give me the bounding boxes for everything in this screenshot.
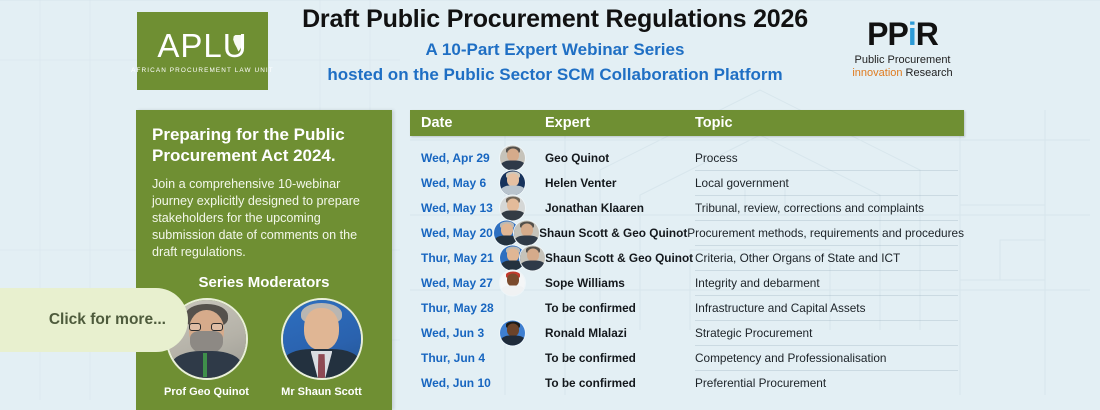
cell-expert: Helen Venter (545, 176, 695, 190)
webinar-schedule-table: Date Expert Topic Wed, Apr 29Geo QuinotP… (410, 110, 964, 395)
table-row[interactable]: Wed, May 20Shaun Scott & Geo QuinotProcu… (410, 220, 964, 245)
cell-date: Wed, Jun 10 (410, 376, 545, 390)
avatar (499, 269, 526, 296)
ppir-mark-pp: PP (867, 16, 908, 52)
ppir-tagline-innovation: innovation (852, 67, 902, 79)
expert-name: To be confirmed (545, 351, 636, 365)
cell-expert: To be confirmed (545, 376, 695, 390)
expert-avatars (499, 144, 526, 171)
page-subtitle-2: hosted on the Public Sector SCM Collabor… (275, 65, 835, 85)
expert-avatars (499, 269, 526, 296)
table-row[interactable]: Wed, May 6Helen VenterLocal government (410, 170, 964, 195)
cell-topic: Tribunal, review, corrections and compla… (695, 201, 964, 215)
expert-name: To be confirmed (545, 376, 636, 390)
column-header-date: Date (410, 115, 545, 131)
cell-expert: Shaun Scott & Geo Quinot (539, 226, 687, 240)
column-header-topic: Topic (695, 115, 964, 131)
cell-expert: Shaun Scott & Geo Quinot (545, 251, 695, 265)
table-row[interactable]: Thur, May 21Shaun Scott & Geo QuinotCrit… (410, 245, 964, 270)
table-row[interactable]: Wed, Apr 29Geo QuinotProcess (410, 145, 964, 170)
avatar (499, 319, 526, 346)
cell-topic: Criteria, Other Organs of State and ICT (695, 251, 964, 265)
aplu-wordmark-text: APLU (157, 29, 247, 62)
expert-name: Sope Williams (545, 276, 625, 290)
cell-topic: Infrastructure and Capital Assets (695, 301, 964, 315)
avatar (281, 298, 363, 380)
moderator-name: Mr Shaun Scott (274, 386, 369, 398)
title-block: Draft Public Procurement Regulations 202… (275, 4, 835, 85)
page-subtitle-1: A 10-Part Expert Webinar Series (275, 40, 835, 60)
cell-topic: Competency and Professionalisation (695, 351, 964, 365)
avatar (513, 219, 540, 246)
cell-topic: Process (695, 151, 964, 165)
cell-date: Thur, Jun 4 (410, 351, 545, 365)
cell-topic: Integrity and debarment (695, 276, 964, 290)
ppir-tagline-line-2: innovation Research (845, 67, 960, 79)
portrait-shaun-scott (283, 300, 361, 378)
table-row[interactable]: Thur, May 28To be confirmedInfrastructur… (410, 295, 964, 320)
click-for-more-label: Click for more... (49, 311, 166, 329)
table-header-row: Date Expert Topic (410, 110, 964, 136)
ppir-mark-r: R (916, 16, 938, 52)
column-header-expert: Expert (545, 115, 695, 131)
expert-name: To be confirmed (545, 301, 636, 315)
cell-expert: Ronald Mlalazi (545, 326, 695, 340)
expert-name: Jonathan Klaaren (545, 201, 644, 215)
expert-avatars (499, 319, 526, 346)
ppir-mark-i: i (908, 16, 916, 52)
cell-expert: Sope Williams (545, 276, 695, 290)
cell-expert: Jonathan Klaaren (545, 201, 695, 215)
table-body: Wed, Apr 29Geo QuinotProcessWed, May 6He… (410, 145, 964, 395)
table-row[interactable]: Wed, May 13Jonathan KlaarenTribunal, rev… (410, 195, 964, 220)
intro-panel: Preparing for the Public Procurement Act… (136, 110, 392, 410)
moderators-heading: Series Moderators (152, 274, 376, 291)
cell-topic: Strategic Procurement (695, 326, 964, 340)
aplu-tagline: AFRICAN PROCUREMENT LAW UNIT (131, 67, 274, 74)
cell-topic: Procurement methods, requirements and pr… (687, 226, 964, 240)
expert-avatars (499, 194, 526, 221)
panel-heading: Preparing for the Public Procurement Act… (152, 124, 376, 167)
expert-avatars (493, 219, 540, 246)
table-row[interactable]: Thur, Jun 4To be confirmedCompetency and… (410, 345, 964, 370)
table-row[interactable]: Wed, Jun 10To be confirmedPreferential P… (410, 370, 964, 395)
expert-name: Helen Venter (545, 176, 616, 190)
moderator-shaun-scott: Mr Shaun Scott (274, 298, 369, 398)
expert-name: Ronald Mlalazi (545, 326, 627, 340)
expert-avatars (499, 244, 546, 271)
click-for-more-button[interactable]: Click for more... (0, 288, 188, 352)
ppir-wordmark: PPiR (845, 18, 960, 50)
ppir-logo: PPiR Public Procurement innovation Resea… (845, 18, 960, 79)
cell-topic: Preferential Procurement (695, 376, 964, 390)
cell-date: Thur, May 28 (410, 301, 545, 315)
ppir-tagline-line-1: Public Procurement (845, 54, 960, 66)
panel-body-text: Join a comprehensive 10-webinar journey … (152, 176, 376, 261)
cell-topic: Local government (695, 176, 964, 190)
page-header: APLU AFRICAN PROCUREMENT LAW UNIT Draft … (0, 0, 1100, 105)
cell-expert: To be confirmed (545, 351, 695, 365)
expert-avatars (499, 169, 526, 196)
expert-name: Shaun Scott & Geo Quinot (539, 226, 687, 240)
avatar (499, 169, 526, 196)
cell-expert: Geo Quinot (545, 151, 695, 165)
aplu-logo: APLU AFRICAN PROCUREMENT LAW UNIT (137, 12, 268, 90)
table-row[interactable]: Wed, Jun 3Ronald MlalaziStrategic Procur… (410, 320, 964, 345)
expert-name: Shaun Scott & Geo Quinot (545, 251, 693, 265)
moderator-name: Prof Geo Quinot (159, 386, 254, 398)
page-title: Draft Public Procurement Regulations 202… (275, 4, 835, 34)
avatar (519, 244, 546, 271)
aplu-wordmark-label: APLU (157, 27, 247, 64)
avatar (499, 144, 526, 171)
expert-name: Geo Quinot (545, 151, 609, 165)
ppir-tagline-research: Research (903, 67, 953, 79)
avatar (499, 194, 526, 221)
cell-expert: To be confirmed (545, 301, 695, 315)
table-row[interactable]: Wed, May 27Sope WilliamsIntegrity and de… (410, 270, 964, 295)
